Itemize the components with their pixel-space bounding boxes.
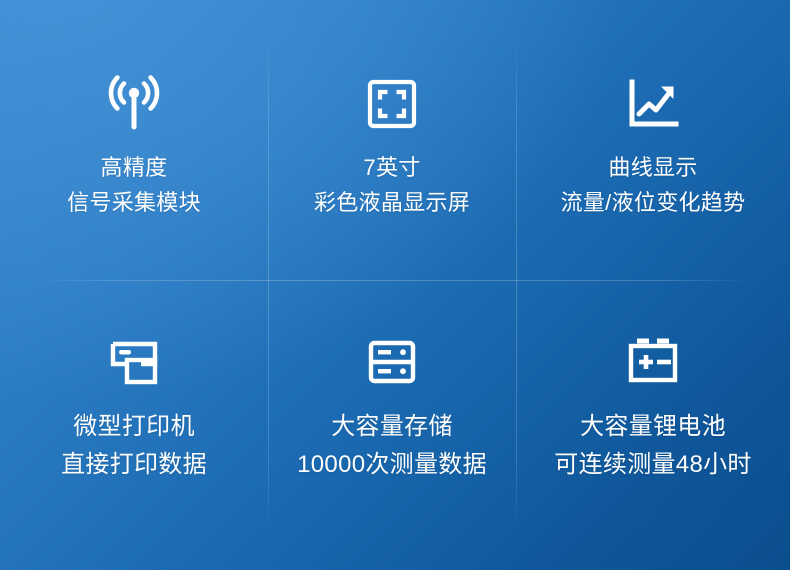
- feature-line-2: 流量/液位变化趋势: [561, 185, 746, 220]
- feature-line-1: 高精度: [67, 150, 201, 185]
- signal-tower-icon: [102, 72, 166, 136]
- feature-line-2: 可连续测量48小时: [554, 446, 751, 484]
- feature-text: 微型打印机 直接打印数据: [61, 408, 207, 484]
- feature-line-1: 微型打印机: [61, 408, 207, 446]
- feature-cell-storage: 大容量存储 10000次测量数据: [268, 280, 516, 570]
- battery-icon: [621, 330, 685, 394]
- feature-text: 大容量锂电池 可连续测量48小时: [554, 408, 751, 484]
- feature-line-2: 10000次测量数据: [297, 446, 487, 484]
- feature-cell-display: 7英寸 彩色液晶显示屏: [268, 0, 516, 280]
- display-screen-icon: [360, 72, 424, 136]
- trending-chart-icon: [621, 72, 685, 136]
- feature-line-1: 大容量锂电池: [554, 408, 751, 446]
- feature-line-1: 曲线显示: [561, 150, 746, 185]
- feature-cell-printer: 微型打印机 直接打印数据: [0, 280, 268, 570]
- feature-line-1: 大容量存储: [297, 408, 487, 446]
- feature-cell-curve-display: 曲线显示 流量/液位变化趋势: [516, 0, 790, 280]
- feature-text: 曲线显示 流量/液位变化趋势: [561, 150, 746, 220]
- feature-line-2: 信号采集模块: [67, 185, 201, 220]
- feature-cell-signal-acquisition: 高精度 信号采集模块: [0, 0, 268, 280]
- printer-icon: [102, 330, 166, 394]
- product-feature-banner: 高精度 信号采集模块 7英寸 彩色液晶显示屏: [0, 0, 790, 570]
- feature-text: 大容量存储 10000次测量数据: [297, 408, 487, 484]
- feature-text: 高精度 信号采集模块: [67, 150, 201, 220]
- storage-server-icon: [360, 330, 424, 394]
- feature-line-1: 7英寸: [314, 150, 470, 185]
- feature-line-2: 彩色液晶显示屏: [314, 185, 470, 220]
- feature-line-2: 直接打印数据: [61, 446, 207, 484]
- feature-text: 7英寸 彩色液晶显示屏: [314, 150, 470, 220]
- feature-grid: 高精度 信号采集模块 7英寸 彩色液晶显示屏: [0, 0, 790, 570]
- feature-cell-battery: 大容量锂电池 可连续测量48小时: [516, 280, 790, 570]
